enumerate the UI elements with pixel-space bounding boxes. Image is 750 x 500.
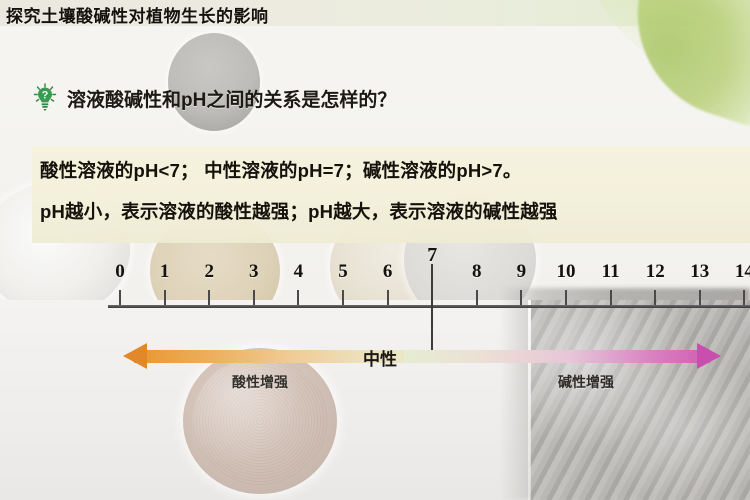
question-text: 溶液酸碱性和pH之间的关系是怎样的？ xyxy=(67,85,396,112)
lightbulb-question-icon: ? xyxy=(33,83,57,113)
ph-tick-9 xyxy=(520,290,522,305)
ph-tick-label-1: 1 xyxy=(160,261,170,283)
ph-tick-6 xyxy=(387,290,389,305)
question-row: ? 溶液酸碱性和pH之间的关系是怎样的？ xyxy=(33,83,396,113)
ph-arrow-row: 中性 xyxy=(0,345,750,369)
ph-tick-1 xyxy=(164,290,166,305)
ph-tick-3 xyxy=(253,290,255,305)
ph-tick-label-11: 11 xyxy=(602,261,620,283)
ph-tick-label-9: 9 xyxy=(517,261,527,283)
ph-tick-label-10: 10 xyxy=(557,261,576,283)
ph-tick-11 xyxy=(610,290,612,305)
ph-tick-7 xyxy=(431,264,433,358)
slide-canvas: 探究土壤酸碱性对植物生长的影响 ? 溶液酸碱性和pH xyxy=(0,0,750,500)
ph-tick-label-2: 2 xyxy=(204,261,214,283)
ph-tick-4 xyxy=(297,290,299,305)
ph-tick-label-13: 13 xyxy=(690,261,709,283)
ph-tick-label-8: 8 xyxy=(472,261,482,283)
ph-tick-8 xyxy=(476,290,478,305)
ph-tick-13 xyxy=(699,290,701,305)
ph-scale: 01234567891011121314 xyxy=(0,250,750,350)
page-title: 探究土壤酸碱性对植物生长的影响 xyxy=(6,2,269,27)
definition-line-1: 酸性溶液的pH<7； 中性溶液的pH=7；碱性溶液的pH>7。 xyxy=(40,157,522,183)
ph-tick-label-0: 0 xyxy=(115,261,125,283)
ph-tick-10 xyxy=(565,290,567,305)
ph-tick-label-7: 7 xyxy=(427,244,437,267)
acid-caption: 酸性增强 xyxy=(232,372,288,392)
ph-tick-0 xyxy=(119,290,121,305)
definition-line-2: pH越小，表示溶液的酸性越强；pH越大，表示溶液的碱性越强 xyxy=(40,198,558,224)
ph-tick-label-12: 12 xyxy=(646,261,665,283)
ph-tick-label-5: 5 xyxy=(338,261,348,283)
ph-tick-label-3: 3 xyxy=(249,261,259,283)
ph-tick-2 xyxy=(208,290,210,305)
ph-axis-line xyxy=(108,305,750,308)
ph-tick-label-6: 6 xyxy=(383,261,393,283)
neutral-label: 中性 xyxy=(357,345,403,370)
ph-tick-label-14: 14 xyxy=(735,261,750,283)
ph-tick-label-4: 4 xyxy=(294,261,304,283)
petri-dish-gray-top xyxy=(168,33,260,131)
ph-tick-12 xyxy=(654,290,656,305)
neutral-label-wrap: 中性 xyxy=(0,345,750,370)
ph-tick-14 xyxy=(743,290,745,305)
svg-text:?: ? xyxy=(42,90,49,102)
ph-tick-5 xyxy=(342,290,344,305)
base-caption: 碱性增强 xyxy=(558,372,614,392)
